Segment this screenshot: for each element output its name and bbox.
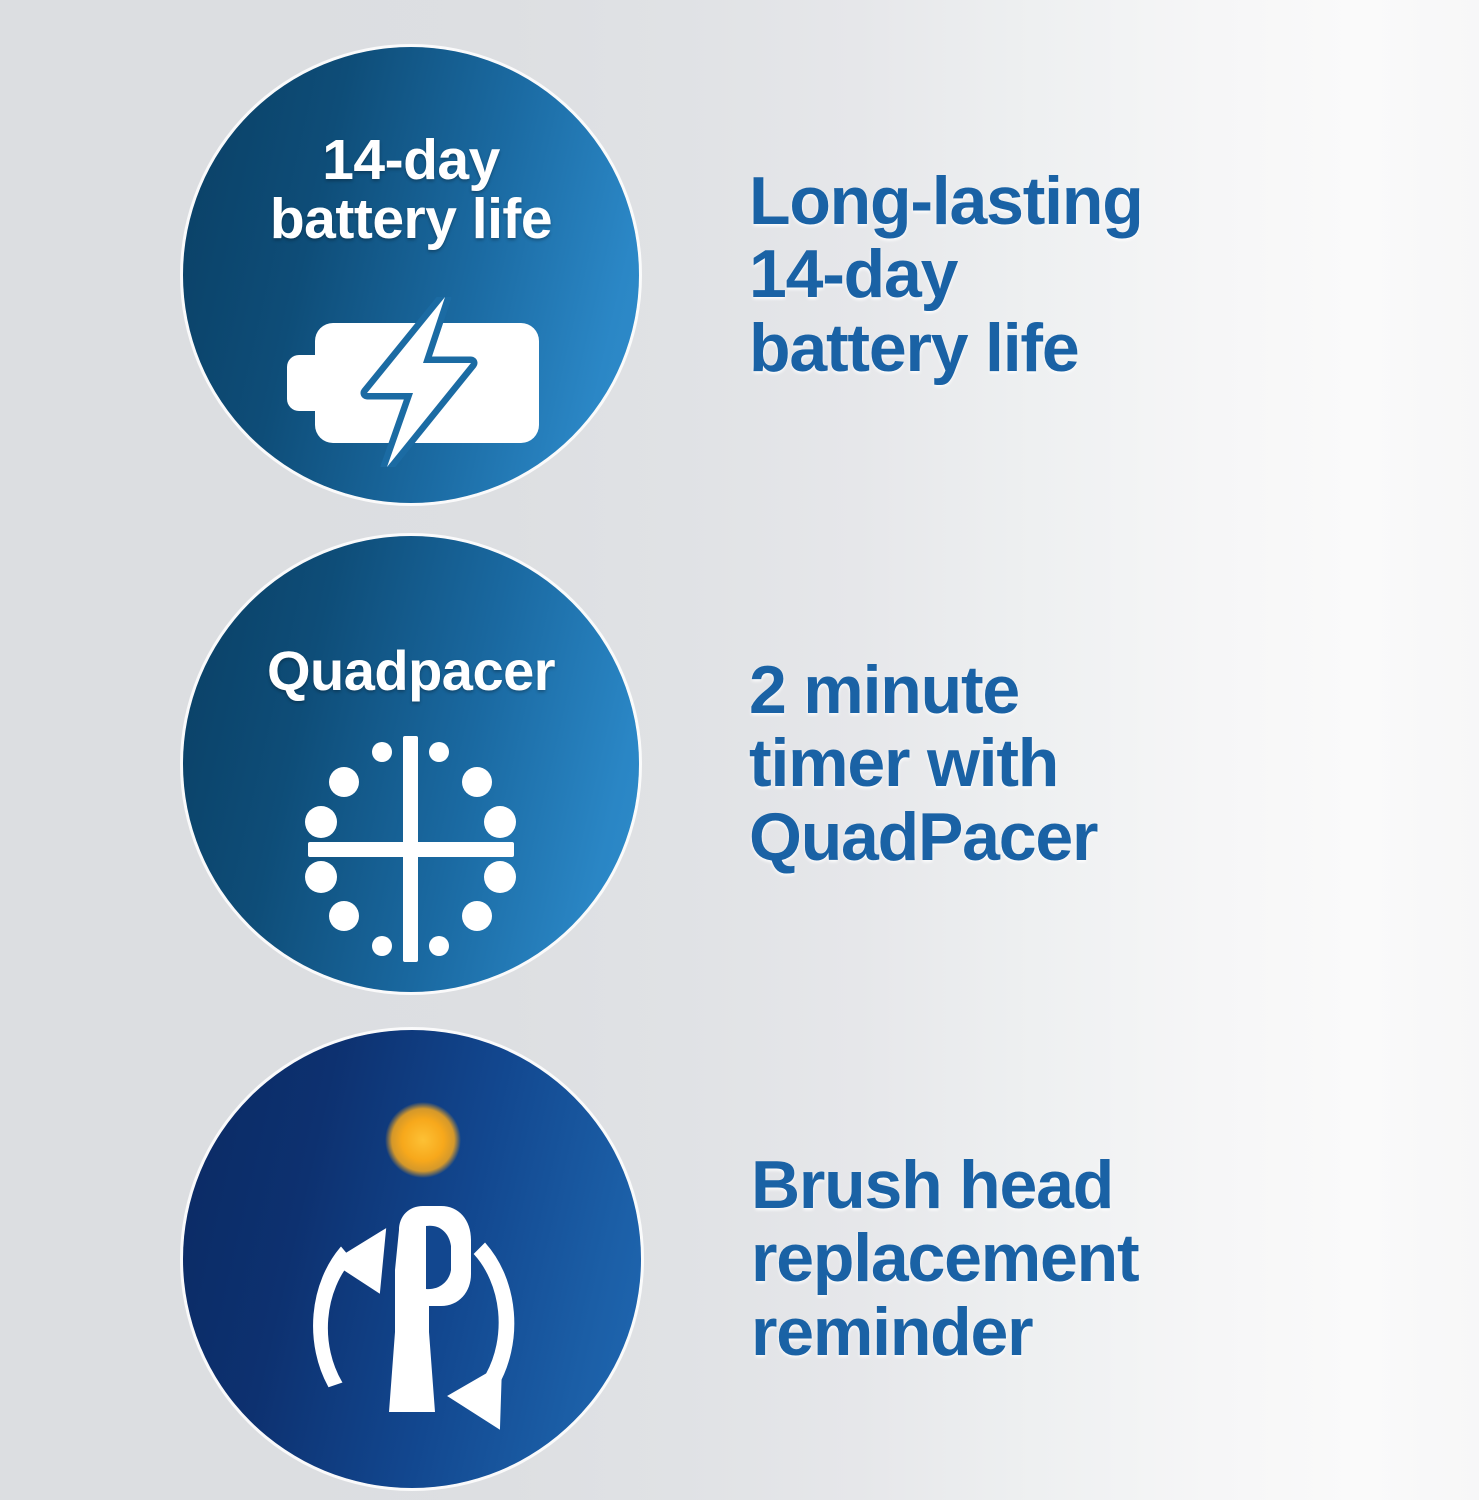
brush-head-replacement-icon-svg	[183, 1030, 641, 1488]
reminder-indicator-dot	[385, 1102, 461, 1178]
badge-quadpacer-label: Quadpacer	[183, 642, 639, 700]
quadpacer-cross-dots-icon-svg	[183, 734, 639, 964]
feature-heading-quadpacer: 2 minute timer with QuadPacer	[749, 654, 1097, 874]
feature-row-battery: 14-day battery life	[0, 47, 1479, 503]
feature-heading-brush-head: Brush head replacement reminder	[751, 1149, 1138, 1369]
badge-battery-label: 14-day battery life	[183, 131, 639, 250]
badge-quadpacer-surface: Quadpacer	[183, 536, 639, 992]
feature-row-brush: Brush head replacement reminder	[0, 1030, 1479, 1488]
feature-heading-battery: Long-lasting 14-day battery life	[749, 165, 1143, 385]
brush-head-replacement-icon	[183, 1030, 641, 1488]
battery-charging-icon-svg	[183, 297, 639, 467]
badge-brush-head	[183, 1030, 641, 1488]
battery-charging-icon	[183, 297, 639, 467]
quadpacer-cross-dots-icon	[183, 734, 639, 964]
feature-infographic-page: 14-day battery life	[0, 0, 1479, 1500]
badge-quadpacer: Quadpacer	[183, 536, 639, 992]
feature-row-quadpacer: Quadpacer	[0, 536, 1479, 992]
badge-brush-head-surface	[183, 1030, 641, 1488]
badge-battery-surface: 14-day battery life	[183, 47, 639, 503]
badge-battery: 14-day battery life	[183, 47, 639, 503]
